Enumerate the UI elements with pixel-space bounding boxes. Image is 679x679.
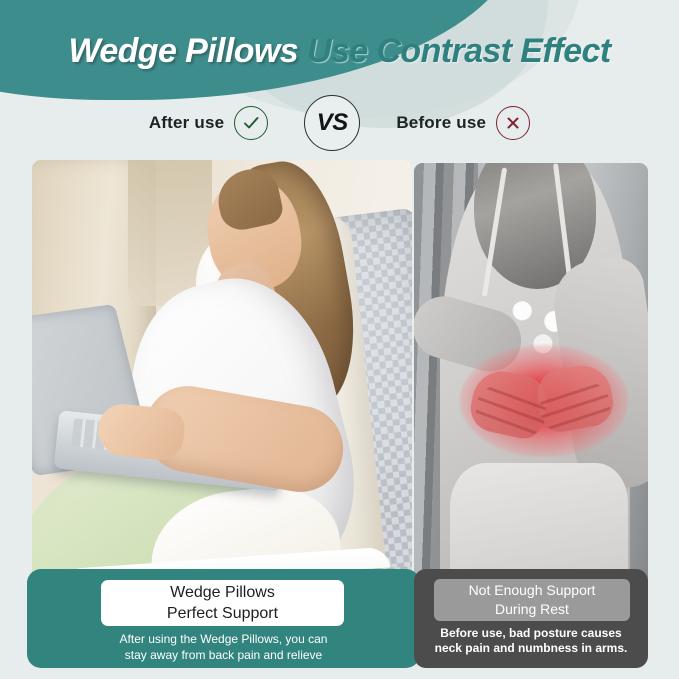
- before-use-group: Before use: [396, 106, 530, 140]
- after-use-caption-body-line2: stay away from back pain and relieve: [27, 647, 420, 663]
- before-use-caption-body-line2: neck pain and numbness in arms.: [414, 641, 648, 656]
- comparison-legend: After use VS Before use: [0, 99, 679, 147]
- after-use-caption-title-line2: Perfect Support: [167, 603, 278, 624]
- before-use-label: Before use: [396, 113, 486, 133]
- vs-circle-icon: VS: [304, 95, 360, 151]
- after-use-caption-title-line1: Wedge Pillows: [170, 582, 275, 603]
- before-use-caption: Not Enough Support During Rest Before us…: [414, 569, 648, 668]
- after-use-caption-body: After using the Wedge Pillows, you can s…: [27, 631, 420, 663]
- before-use-caption-title-line2: During Rest: [495, 600, 569, 619]
- x-circle-icon: [496, 106, 530, 140]
- before-use-caption-body-line1: Before use, bad posture causes: [414, 626, 648, 641]
- vs-label: VS: [317, 109, 348, 137]
- before-use-caption-body: Before use, bad posture causes neck pain…: [414, 626, 648, 656]
- after-use-label: After use: [149, 113, 225, 133]
- after-use-group: After use: [149, 106, 269, 140]
- infographic-root: Wedge Pillows Use Contrast Effect After …: [0, 0, 679, 679]
- after-use-caption-body-line1: After using the Wedge Pillows, you can: [27, 631, 420, 647]
- after-use-caption: Wedge Pillows Perfect Support After usin…: [27, 569, 420, 668]
- after-use-caption-title-box: Wedge Pillows Perfect Support: [101, 580, 344, 626]
- check-circle-icon: [234, 106, 268, 140]
- before-use-caption-title-line1: Not Enough Support: [469, 581, 596, 600]
- before-use-caption-title-box: Not Enough Support During Rest: [434, 579, 630, 621]
